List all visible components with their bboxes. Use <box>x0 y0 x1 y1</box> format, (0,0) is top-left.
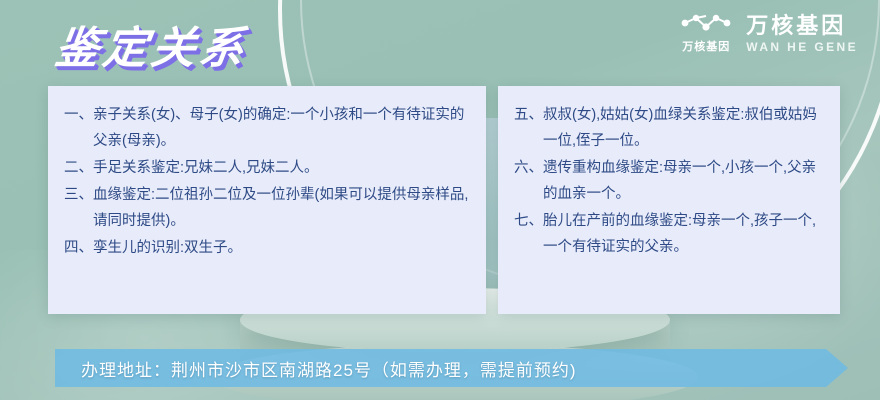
list-item-text: 孪生儿的识别:双生子。 <box>93 235 472 261</box>
list-item-number: 五、 <box>514 102 543 154</box>
brand-logo: 万核基因 万核基因 WAN HE GENE <box>680 14 858 53</box>
list-item-number: 七、 <box>514 208 543 260</box>
molecule-network-icon <box>680 14 732 40</box>
brand-name-en: WAN HE GENE <box>746 41 858 53</box>
list-item-text: 叔叔(女),姑姑(女)血绿关系鉴定:叔伯或姑妈一位,侄子一位。 <box>543 102 826 154</box>
list-item-text: 血缘鉴定:二位祖孙二位及一位孙辈(如果可以提供母亲样品,请同时提供)。 <box>93 182 472 234</box>
relationship-list-card-left: 一、 亲子关系(女)、母子(女)的确定:一个小孩和一个有待证实的父亲(母亲)。 … <box>48 86 486 314</box>
list-item: 三、 血缘鉴定:二位祖孙二位及一位孙辈(如果可以提供母亲样品,请同时提供)。 <box>64 182 472 234</box>
list-item-number: 二、 <box>64 155 93 181</box>
brand-name-cn: 万核基因 <box>746 14 858 37</box>
page-title: 鉴定关系 <box>52 12 253 76</box>
brand-mark-label: 万核基因 <box>682 42 730 53</box>
list-item-text: 亲子关系(女)、母子(女)的确定:一个小孩和一个有待证实的父亲(母亲)。 <box>93 102 472 154</box>
list-item-text: 遗传重构血缘鉴定:母亲一个,小孩一个,父亲的血亲一个。 <box>543 155 826 207</box>
brand-mark: 万核基因 <box>680 14 732 53</box>
list-item-text: 胎儿在产前的血缘鉴定:母亲一个,孩子一个,一个有待证实的父亲。 <box>543 208 826 260</box>
brand-text: 万核基因 WAN HE GENE <box>746 14 858 52</box>
list-item-text: 手足关系鉴定:兄妹二人,兄妹二人。 <box>93 155 472 181</box>
list-item: 二、 手足关系鉴定:兄妹二人,兄妹二人。 <box>64 155 472 181</box>
list-item: 六、 遗传重构血缘鉴定:母亲一个,小孩一个,父亲的血亲一个。 <box>514 155 826 207</box>
list-item-number: 三、 <box>64 182 93 234</box>
list-item: 一、 亲子关系(女)、母子(女)的确定:一个小孩和一个有待证实的父亲(母亲)。 <box>64 102 472 154</box>
list-item-number: 六、 <box>514 155 543 207</box>
list-item-number: 一、 <box>64 102 93 154</box>
list-item: 五、 叔叔(女),姑姑(女)血绿关系鉴定:叔伯或姑妈一位,侄子一位。 <box>514 102 826 154</box>
address-banner: 办理地址：荆州市沙市区南湖路25号（如需办理，需提前预约) <box>55 349 848 387</box>
list-item-number: 四、 <box>64 235 93 261</box>
list-item: 七、 胎儿在产前的血缘鉴定:母亲一个,孩子一个,一个有待证实的父亲。 <box>514 208 826 260</box>
address-banner-text: 办理地址：荆州市沙市区南湖路25号（如需办理，需提前预约) <box>55 356 577 381</box>
list-item: 四、 孪生儿的识别:双生子。 <box>64 235 472 261</box>
relationship-list-card-right: 五、 叔叔(女),姑姑(女)血绿关系鉴定:叔伯或姑妈一位,侄子一位。 六、 遗传… <box>498 86 840 314</box>
poster-canvas: 鉴定关系 <box>0 0 880 400</box>
